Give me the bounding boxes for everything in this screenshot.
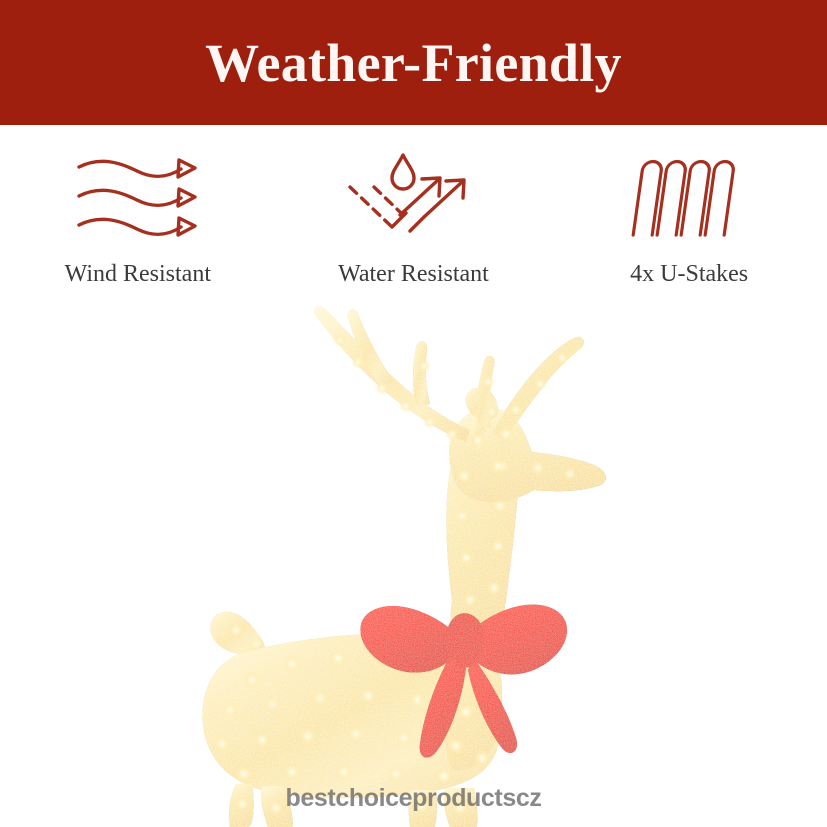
feature-u-stakes: 4x U-Stakes — [564, 148, 814, 286]
feature-label-wind-resistant: Wind Resistant — [65, 262, 211, 286]
water-droplet-repel-icon — [348, 148, 478, 244]
product-feature-card: Weather-Friendly Wind Resistant — [0, 0, 827, 827]
u-stakes-icon — [629, 148, 749, 244]
wind-lines-arrows-icon — [73, 148, 203, 244]
feature-label-water-resistant: Water Resistant — [338, 262, 489, 286]
feature-water-resistant: Water Resistant — [288, 148, 538, 286]
page-title: Weather-Friendly — [205, 36, 622, 90]
header-banner: Weather-Friendly — [0, 0, 827, 125]
feature-wind-resistant: Wind Resistant — [13, 148, 263, 286]
product-image — [0, 300, 827, 827]
feature-row: Wind Resistant — [0, 148, 827, 308]
feature-label-u-stakes: 4x U-Stakes — [630, 262, 748, 286]
